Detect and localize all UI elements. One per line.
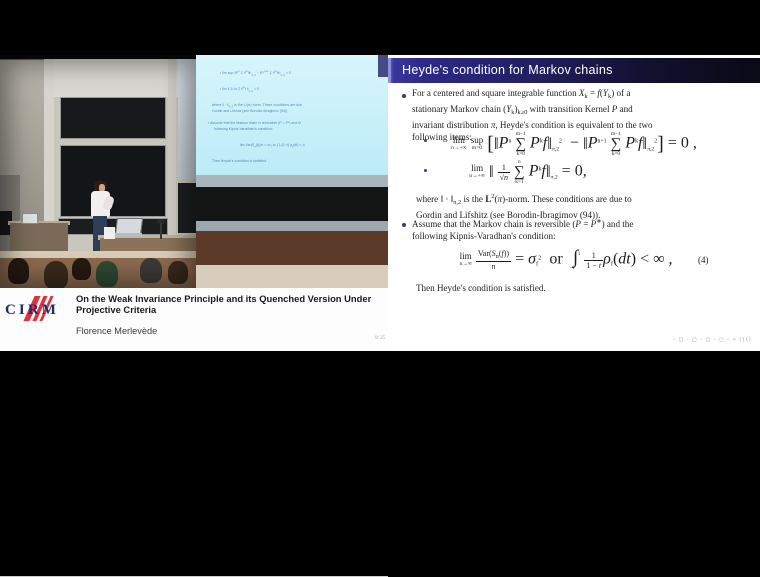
audience-head [8, 258, 29, 284]
eq1-open-bracket: [ [487, 138, 494, 150]
bullet-icon [402, 94, 406, 98]
equation-2: limn→+∞ ‖ 1√n n∑k=1 Pkf‖π,2 = 0, [388, 159, 714, 185]
talk-title: On the Weak Invariance Principle and its… [76, 293, 386, 316]
window-right [178, 59, 196, 179]
slide-title: Heyde's condition for Markov chains [402, 63, 613, 77]
slide-preview-thumbnail[interactable]: • lim sup ‖Pn Σ Pkf‖²π,2 − ‖Pn+1 Σ Pkf‖²… [196, 55, 388, 175]
eq2-sum: n∑k=1 [514, 159, 525, 185]
letterbox-bottom [0, 351, 760, 427]
preview-surround-3 [196, 221, 388, 231]
window-mullion [168, 59, 176, 264]
cirm-logo: CIRM [5, 296, 71, 322]
def-line-2: stationary Markov chain (Yk)k≥0 with tra… [412, 104, 633, 114]
lecture-hall-scene [0, 55, 196, 288]
microphone-stand [160, 223, 162, 239]
audience-head [140, 258, 162, 283]
eq4-fraction: Var(Sn(f))n [476, 249, 511, 271]
def-line-3: invariant distribution π, Heyde's condit… [412, 120, 653, 130]
audience-desk-row [0, 251, 196, 258]
page-number: 9/ 25 [375, 336, 385, 341]
equation-tag-4: (4) [698, 255, 709, 265]
blackboard-lower [60, 145, 166, 217]
where-line-1: where ‖ · ‖π,2 is the L2(π)-norm. These … [416, 194, 632, 204]
audience-head [44, 261, 68, 288]
speaker-video[interactable]: • lim sup ‖Pn Σ Pkf‖²π,2 − ‖Pn+1 Σ Pkf‖²… [0, 55, 388, 288]
preview-surround-1 [196, 175, 388, 187]
assume-line-2: following Kipnis-Varadhan's condition: [412, 231, 556, 241]
closing-statement: Then Heyde's condition is satisfied. [416, 282, 746, 294]
bullet-icon [402, 223, 406, 227]
eq1-close-bracket: ] [657, 138, 664, 150]
eq1-sum-2: m−1∑k=0 [611, 131, 622, 157]
audience-head [72, 258, 91, 280]
control-monitor [22, 213, 38, 224]
slide-body: For a centered and square integrable fun… [388, 87, 760, 351]
beamer-navigation-symbols[interactable]: ◦ ◻ ◦ ◻ ◦ ◻ ◦ ◻ ◦ ≡ ⟨⟩⟨⟩ [673, 337, 752, 343]
eq4-limit: limn→∞ [459, 252, 471, 268]
window-right-lower [178, 183, 196, 233]
blackboard-upper [60, 97, 166, 139]
eq1-sup: supm>0 [471, 136, 484, 152]
preview-title-bar [378, 55, 388, 77]
eq1-sum-1: m−1∑k=0 [515, 131, 526, 157]
assume-line-1: Assume that the Markov chain is reversib… [412, 219, 633, 229]
slide-title-bar-accent [388, 58, 391, 83]
audience-head [96, 261, 118, 287]
preview-surround-4 [196, 231, 388, 265]
preview-surround-2 [196, 187, 388, 221]
letterbox-top [0, 0, 760, 55]
logo-text: CIRM [5, 302, 59, 319]
audience-head [168, 261, 188, 284]
paragraph-assume: Assume that the Markov chain is reversib… [412, 216, 742, 242]
presentation-slide[interactable]: Heyde's condition for Markov chains For … [388, 55, 760, 351]
eq2-limit: limn→+∞ [469, 164, 485, 180]
paper-sheet [104, 227, 115, 239]
talk-author: Florence Merlevède [76, 326, 157, 336]
def-line-1: For a centered and square integrable fun… [412, 88, 630, 98]
eq4-integral: ∫1−1 [571, 250, 581, 271]
eq2-norm-open: ‖ [489, 166, 494, 178]
screen: • lim sup ‖Pn Σ Pkf‖²π,2 − ‖Pn+1 Σ Pkf‖²… [0, 0, 760, 427]
equation-1: limn→+∞ supm>0 [‖Pn m−1∑k=0 Pkf‖π,22 − ‖… [388, 131, 760, 157]
eq2-fraction: 1√n [498, 163, 510, 182]
eq4-integrand-fraction: 11 − t [584, 251, 603, 270]
preview-surround-5 [196, 265, 388, 288]
eq1-limit: limn→+∞ [451, 136, 467, 152]
